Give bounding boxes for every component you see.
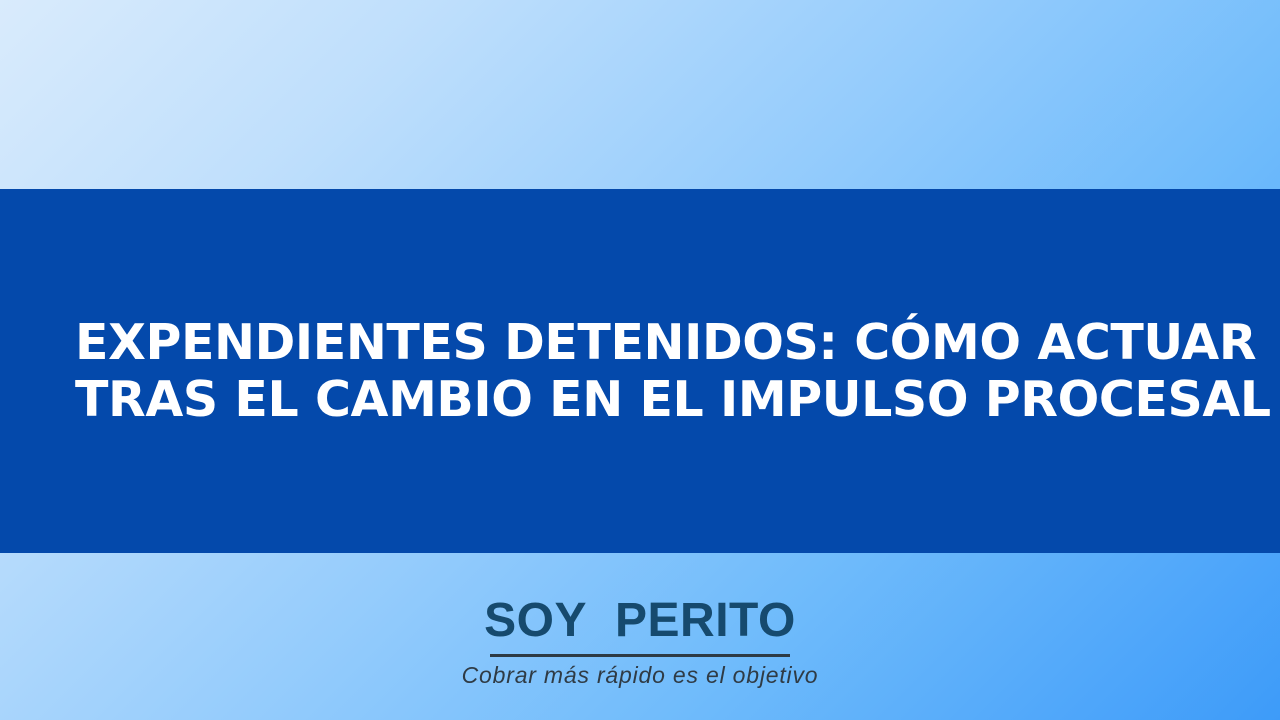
- logo-wordmark: SOY PERITO: [484, 596, 796, 646]
- logo-word-soy: SOY: [484, 596, 587, 646]
- slide-canvas: EXPENDIENTES DETENIDOS: CÓMO ACTUAR TRAS…: [0, 0, 1280, 720]
- logo-divider: [490, 654, 790, 657]
- page-title-line-2: TRAS EL CAMBIO EN EL IMPULSO PROCESAL: [75, 371, 1205, 428]
- page-title-line-1: EXPENDIENTES DETENIDOS: CÓMO ACTUAR: [75, 314, 1205, 371]
- headline-band: EXPENDIENTES DETENIDOS: CÓMO ACTUAR TRAS…: [0, 189, 1280, 553]
- brand-logo: SOY PERITO Cobrar más rápido es el objet…: [0, 596, 1280, 689]
- page-title: EXPENDIENTES DETENIDOS: CÓMO ACTUAR TRAS…: [75, 314, 1205, 428]
- logo-word-perito: PERITO: [615, 596, 796, 646]
- logo-tagline: Cobrar más rápido es el objetivo: [462, 661, 819, 689]
